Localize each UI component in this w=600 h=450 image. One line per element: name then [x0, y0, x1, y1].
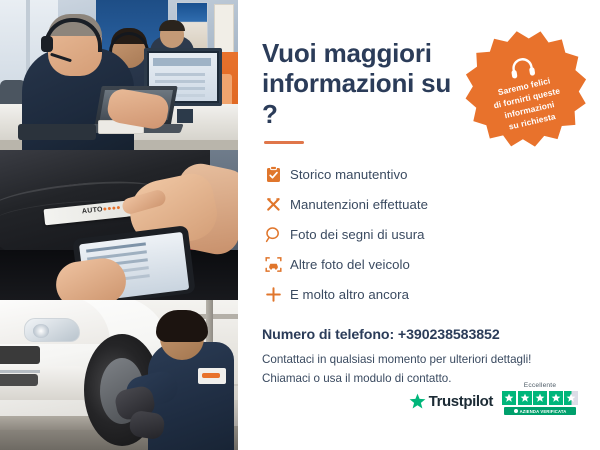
mechanic-photo: [0, 300, 238, 450]
list-item-label: Foto dei segni di usura: [290, 227, 425, 242]
star-filled: [502, 391, 516, 405]
page-title-line-2: informazioni su ?: [262, 68, 451, 128]
page-title: Vuoi maggioriinformazioni su ?: [262, 38, 467, 129]
trustpilot-stars: [502, 391, 578, 405]
trustpilot-widget[interactable]: Trustpilot Eccellente AZIENDA VERIFICATA: [409, 382, 578, 416]
trustpilot-logo: Trustpilot: [409, 393, 493, 415]
badge-text: Saremo felici di fornirti queste informa…: [490, 73, 567, 135]
headlight-decor: [24, 318, 80, 342]
content-panel: Vuoi maggioriinformazioni su ? Saremo fe…: [238, 0, 600, 450]
list-item: Manutenzioni effettuate: [262, 191, 574, 218]
page-title-line-1: Vuoi maggiori: [262, 38, 432, 68]
list-item: Altre foto del veicolo: [262, 251, 574, 278]
list-item: Foto dei segni di usura: [262, 221, 574, 248]
car-scan-icon: [262, 256, 284, 273]
car-inspection-photo: AUTO●●●●: [0, 150, 238, 300]
grille-decor: [0, 346, 40, 364]
list-item-label: Altre foto del veicolo: [290, 257, 410, 272]
uniform-logo-decor: [198, 368, 226, 384]
title-divider: [264, 141, 304, 144]
clipboard-check-icon: [262, 166, 284, 183]
star-filled: [533, 391, 547, 405]
headset-icon: [508, 54, 537, 80]
air-vent-decor: [0, 374, 38, 386]
promo-banner: AUTO●●●●: [0, 0, 600, 450]
feature-list: Storico manutentivo Manutenzioni effettu…: [262, 161, 574, 308]
star-filled: [518, 391, 532, 405]
trustpilot-wordmark: Trustpilot: [429, 393, 493, 410]
contact-line-1: Contattaci in qualsiasi momento per ulte…: [262, 353, 531, 366]
tools-cross-icon: [262, 196, 284, 213]
phone-number[interactable]: Numero di telefono: +390238583852: [262, 327, 574, 343]
list-item: Storico manutentivo: [262, 161, 574, 188]
trustpilot-rating: Eccellente AZIENDA VERIFICATA: [502, 382, 578, 416]
trustpilot-star-icon: [409, 393, 426, 410]
mechanic-hair-decor: [156, 310, 208, 342]
chrome-trim-decor: [0, 370, 40, 373]
trustpilot-rating-label: Eccellente: [524, 382, 556, 389]
list-item-label: Manutenzioni effettuate: [290, 197, 428, 212]
plus-icon: [262, 286, 284, 303]
callout-badge: Saremo felici di fornirti queste informa…: [455, 19, 597, 161]
keyboard-decor: [18, 124, 96, 140]
call-center-photo: [0, 0, 238, 150]
list-item-label: Storico manutentivo: [290, 167, 408, 182]
verified-company-badge: AZIENDA VERIFICATA: [504, 407, 576, 415]
list-item-label: E molto altro ancora: [290, 287, 409, 302]
star-filled: [549, 391, 563, 405]
verified-check-icon: [514, 409, 518, 413]
magnifier-icon: [262, 226, 284, 243]
photo-column: AUTO●●●●: [0, 0, 238, 450]
list-item: E molto altro ancora: [262, 281, 574, 308]
headset-earcup-decor: [41, 36, 53, 52]
person-back-hair-decor: [159, 20, 185, 31]
verified-label: AZIENDA VERIFICATA: [520, 409, 567, 414]
star-half: [564, 391, 578, 405]
